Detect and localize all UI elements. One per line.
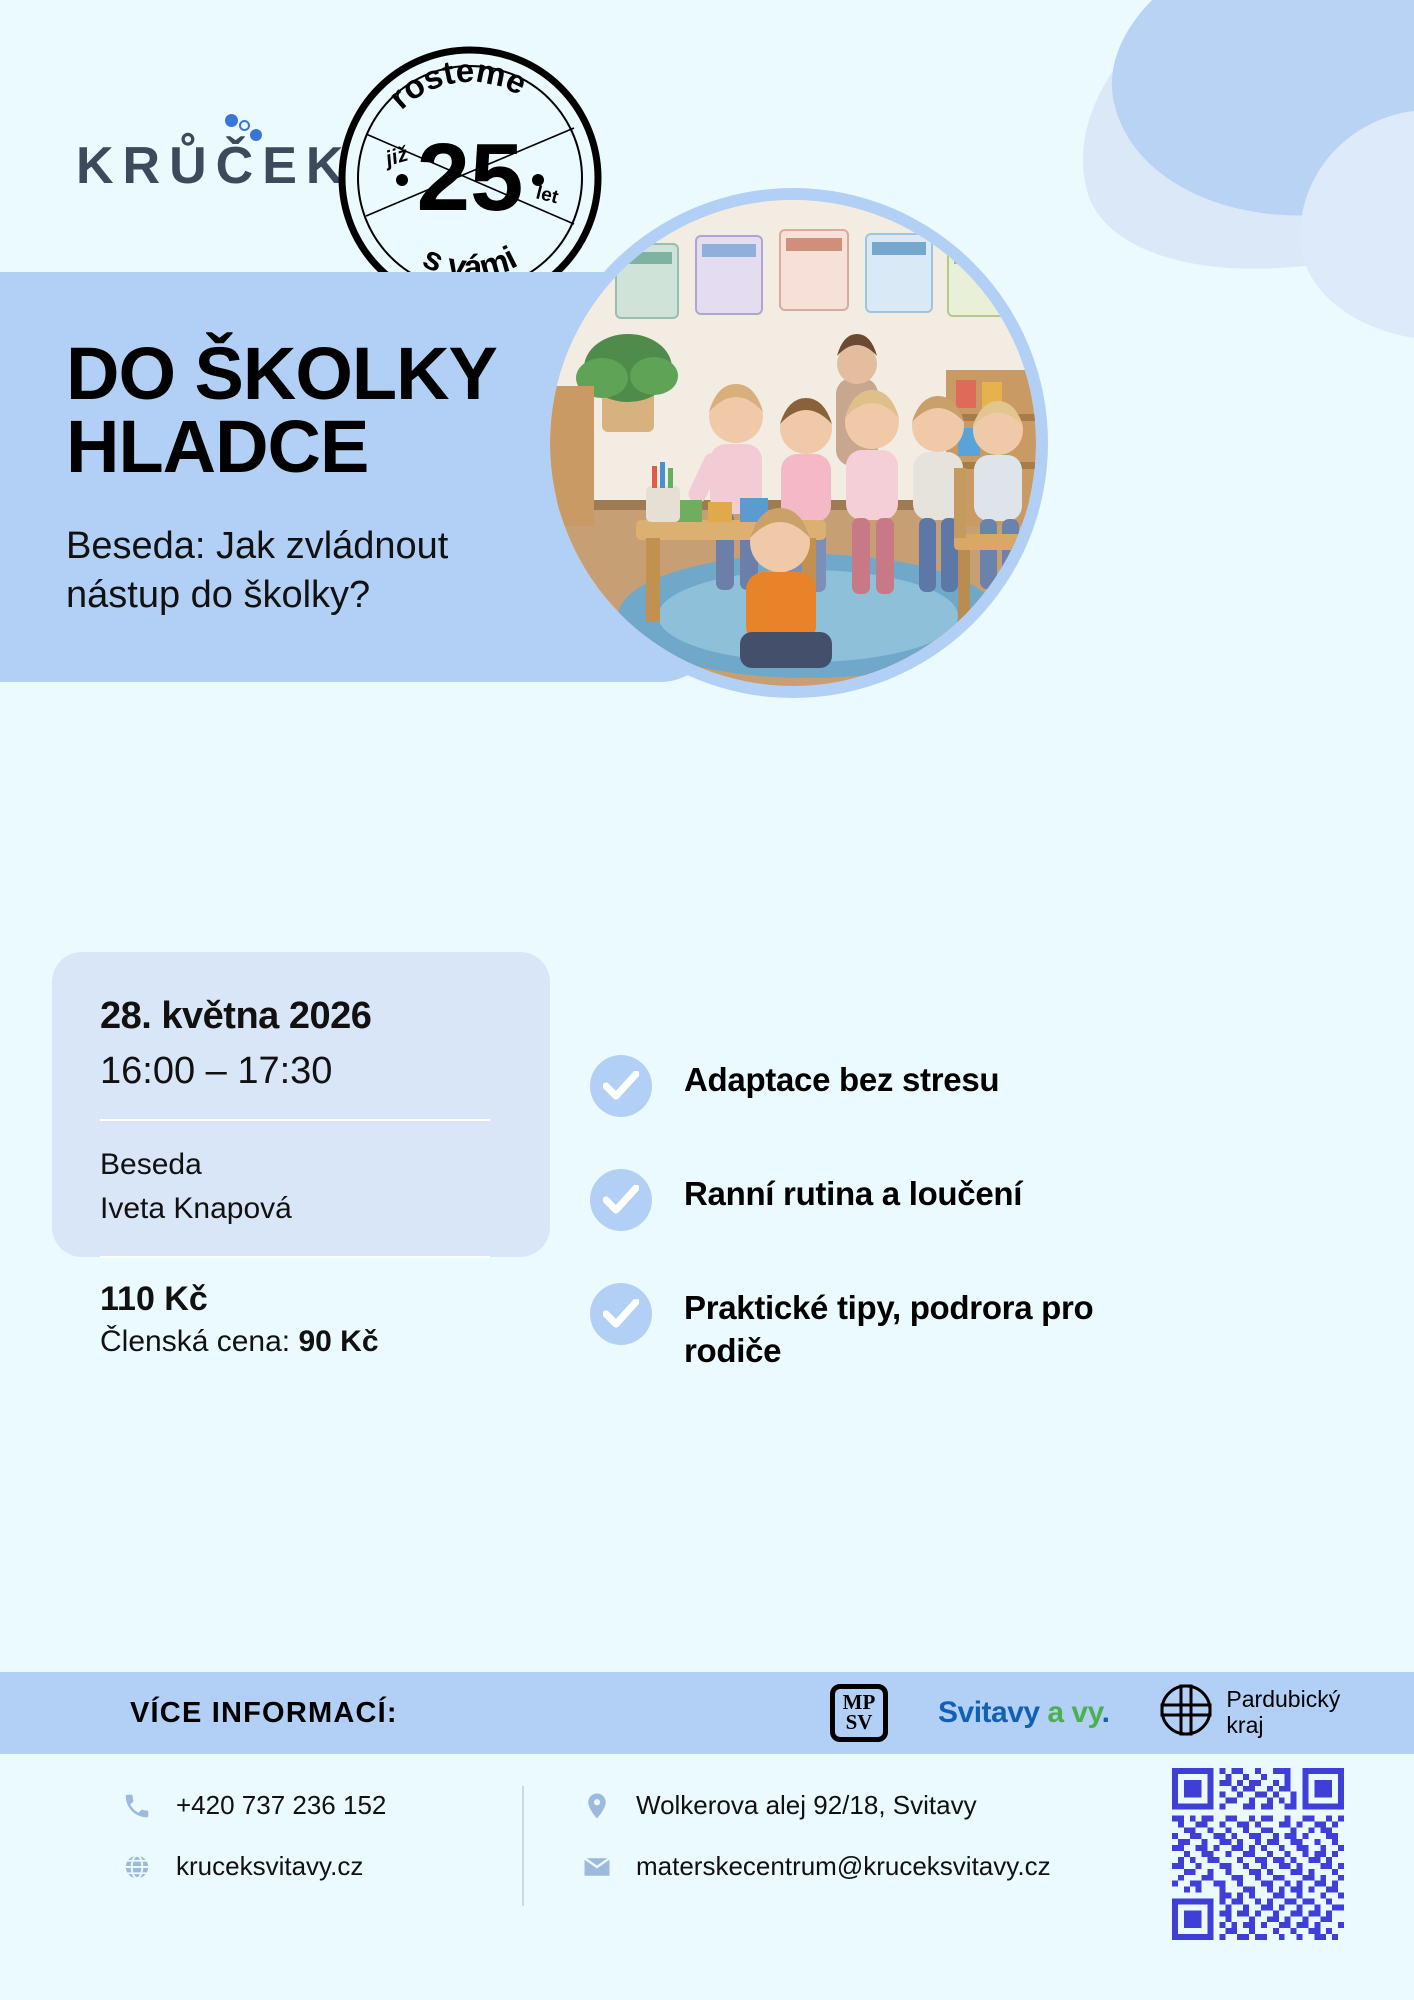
poster-root: KRŮČEK rosteme s vámi již let 25 — [0, 0, 1414, 2000]
svitavy-logo: Svitavy a vy. — [938, 1696, 1109, 1730]
benefit-label: Ranní rutina a loučení — [684, 1169, 1022, 1216]
benefit-label: Praktické tipy, podrora pro rodiče — [684, 1283, 1110, 1373]
globe-icon — [120, 1852, 154, 1882]
partner-logos: MP SV Svitavy a vy. Pardubický kraj — [830, 1683, 1340, 1742]
qr-code-icon[interactable] — [1172, 1768, 1344, 1940]
brand-logo-text: KRŮČEK — [76, 140, 352, 192]
svg-text:rosteme: rosteme — [381, 52, 533, 116]
svitavy-logo-part-1: Svitavy — [938, 1696, 1040, 1729]
map-pin-icon — [580, 1791, 614, 1821]
check-circle-icon — [590, 1055, 652, 1117]
event-type: Beseda — [100, 1143, 500, 1187]
stamp-left-text: již — [380, 142, 411, 171]
pardubicky-kraj-logo: Pardubický kraj — [1159, 1683, 1340, 1742]
pardubicky-line-1: Pardubický — [1226, 1687, 1340, 1713]
event-date: 28. května 2026 — [100, 995, 500, 1038]
contact-phone-row[interactable]: +420 737 236 152 — [120, 1790, 386, 1821]
contacts-separator — [522, 1786, 524, 1906]
details-divider-1 — [100, 1119, 490, 1121]
event-details-content: 28. května 2026 16:00 – 17:30 Beseda Ive… — [100, 995, 500, 1359]
svitavy-logo-part-2: a vy — [1040, 1696, 1102, 1729]
mpsv-line-2: SV — [846, 1713, 873, 1733]
more-info-label: VÍCE INFORMACÍ: — [130, 1697, 398, 1730]
member-price-label: Členská cena: — [100, 1325, 298, 1358]
envelope-icon — [580, 1852, 614, 1882]
contacts-right-column: Wolkerova alej 92/18, Svitavy materskece… — [580, 1790, 1051, 1912]
details-divider-2 — [100, 1256, 490, 1258]
stamp-right-text: let — [534, 182, 561, 208]
benefit-label: Adaptace bez stresu — [684, 1055, 999, 1102]
contact-address-row[interactable]: Wolkerova alej 92/18, Svitavy — [580, 1790, 1051, 1821]
phone-icon — [120, 1791, 154, 1821]
check-circle-icon — [590, 1169, 652, 1231]
contact-email-value: materskecentrum@kruceksvitavy.cz — [636, 1851, 1051, 1882]
check-circle-icon — [590, 1283, 652, 1345]
list-item: Ranní rutina a loučení — [590, 1169, 1110, 1231]
list-item: Praktické tipy, podrora pro rodiče — [590, 1283, 1110, 1373]
three-dots-icon — [225, 110, 271, 144]
pardubicky-cross-icon — [1159, 1683, 1213, 1742]
contact-address-value: Wolkerova alej 92/18, Svitavy — [636, 1790, 977, 1821]
contact-email-row[interactable]: materskecentrum@kruceksvitavy.cz — [580, 1851, 1051, 1882]
list-item: Adaptace bez stresu — [590, 1055, 1110, 1117]
kindergarten-children-photo — [550, 200, 1036, 686]
contact-web-row[interactable]: kruceksvitavy.cz — [120, 1851, 386, 1882]
pardubicky-kraj-text: Pardubický kraj — [1226, 1687, 1340, 1739]
contacts-left-column: +420 737 236 152 kruceksvitavy.cz — [120, 1790, 386, 1912]
mpsv-logo: MP SV — [830, 1684, 888, 1742]
event-lecturer: Iveta Knapová — [100, 1187, 500, 1231]
brand-logo: KRŮČEK — [76, 140, 352, 192]
stamp-number: 25 — [417, 124, 524, 231]
contact-phone-value: +420 737 236 152 — [176, 1790, 386, 1821]
svitavy-logo-part-3: . — [1102, 1696, 1110, 1729]
stamp-top-text: rosteme — [381, 52, 533, 116]
member-price-value: 90 Kč — [298, 1325, 378, 1358]
page-subtitle: Beseda: Jak zvládnout nástup do školky? — [66, 522, 546, 619]
benefits-list: Adaptace bez stresu Ranní rutina a louče… — [590, 1055, 1110, 1425]
event-member-price: Členská cena: 90 Kč — [100, 1325, 500, 1359]
contact-web-value: kruceksvitavy.cz — [176, 1851, 363, 1882]
pardubicky-line-2: kraj — [1226, 1713, 1340, 1739]
event-time: 16:00 – 17:30 — [100, 1050, 500, 1093]
event-price: 110 Kč — [100, 1280, 500, 1319]
